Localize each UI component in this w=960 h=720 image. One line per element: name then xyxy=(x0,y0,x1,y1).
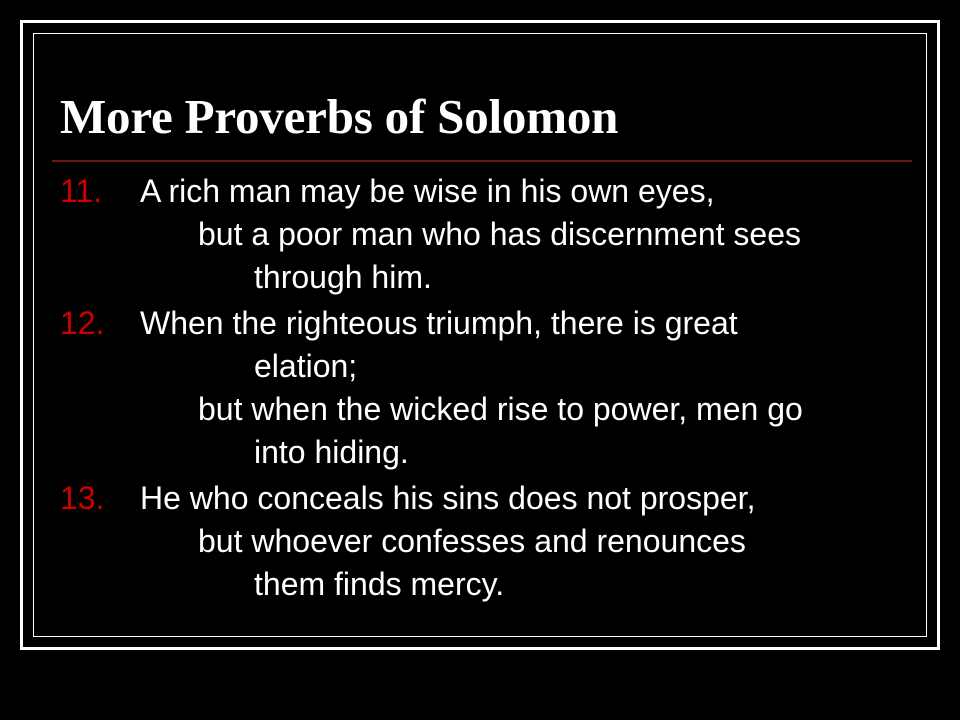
text-line: into hiding. xyxy=(254,431,914,474)
slide-content: More Proverbs of Solomon 11. A rich man … xyxy=(52,88,914,609)
text-line: elation; xyxy=(254,345,914,388)
list-item: 13. He who conceals his sins does not pr… xyxy=(52,477,914,606)
presentation-slide: More Proverbs of Solomon 11. A rich man … xyxy=(0,0,960,720)
list-item: 11. A rich man may be wise in his own ey… xyxy=(52,170,914,299)
text-line: through him. xyxy=(254,256,914,299)
list-item-number: 12. xyxy=(60,302,130,345)
title-divider xyxy=(52,160,912,162)
text-line: A rich man may be wise in his own eyes, xyxy=(140,170,914,213)
text-line: but a poor man who has discernment sees xyxy=(198,213,914,256)
text-line: When the righteous triumph, there is gre… xyxy=(140,302,914,345)
list-item: 12. When the righteous triumph, there is… xyxy=(52,302,914,474)
text-line: but when the wicked rise to power, men g… xyxy=(198,388,914,431)
list-item-text: When the righteous triumph, there is gre… xyxy=(140,302,914,474)
list-item-number: 11. xyxy=(60,170,130,213)
proverbs-list: 11. A rich man may be wise in his own ey… xyxy=(52,170,914,606)
page-title: More Proverbs of Solomon xyxy=(60,88,914,146)
text-line: them finds mercy. xyxy=(254,563,914,606)
list-item-text: A rich man may be wise in his own eyes, … xyxy=(140,170,914,299)
list-item-number: 13. xyxy=(60,477,130,520)
list-item-text: He who conceals his sins does not prospe… xyxy=(140,477,914,606)
text-line: He who conceals his sins does not prospe… xyxy=(140,477,914,520)
text-line: but whoever confesses and renounces xyxy=(198,520,914,563)
